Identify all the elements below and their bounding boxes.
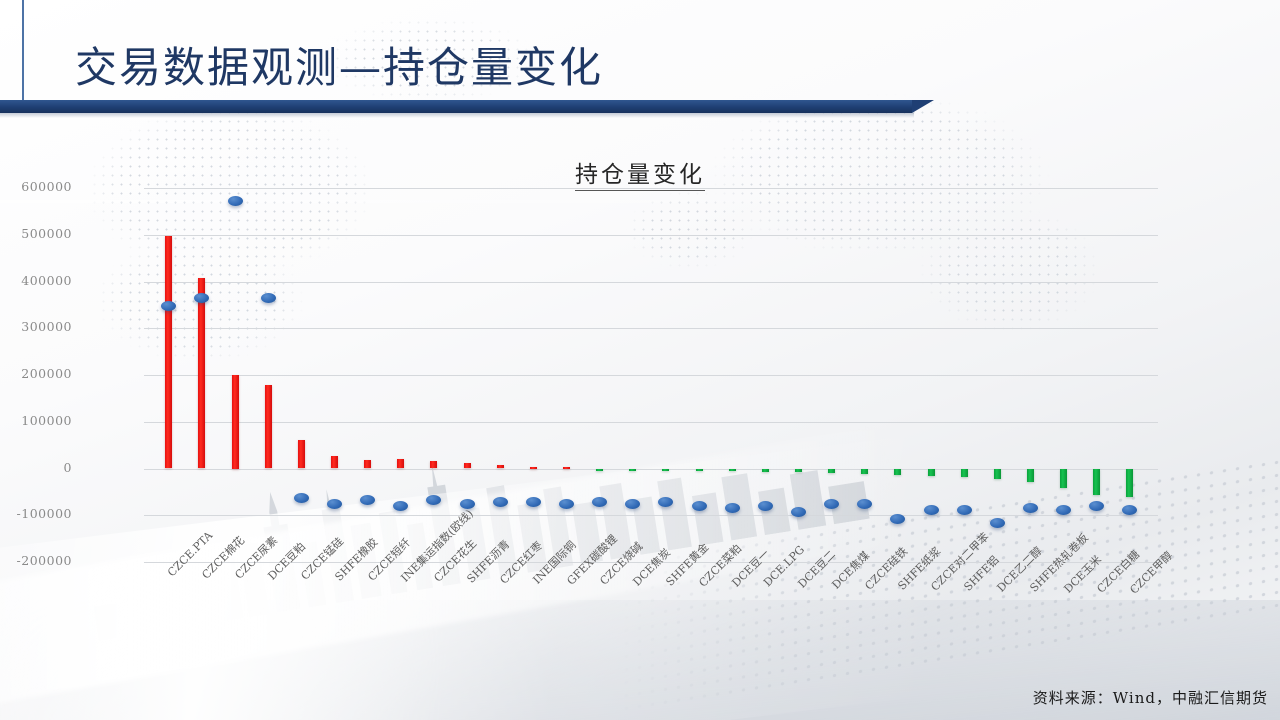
chart-bar xyxy=(629,469,636,471)
chart-marker xyxy=(924,505,939,515)
chart-marker xyxy=(725,503,740,513)
chart-bar xyxy=(1126,469,1133,498)
chart-title-text: 持仓量变化 xyxy=(575,162,705,191)
gridline xyxy=(144,469,1158,470)
chart-bar xyxy=(994,469,1001,479)
y-axis-left-tick: -100000 xyxy=(0,506,72,521)
chart-bar xyxy=(497,465,504,468)
chart-bar xyxy=(1093,469,1100,495)
chart-bar xyxy=(928,469,935,476)
slide-canvas: 交易数据观测—持仓量变化 持仓量变化 -200000-1000000100000… xyxy=(0,0,1280,720)
chart-bar xyxy=(861,469,868,474)
chart-marker xyxy=(692,501,707,511)
gridline xyxy=(144,328,1158,329)
chart-marker xyxy=(493,497,508,507)
chart-bar xyxy=(1027,469,1034,482)
chart-marker xyxy=(526,497,541,507)
chart-bar xyxy=(662,469,669,471)
chart-marker xyxy=(824,499,839,509)
chart-bar xyxy=(298,440,305,468)
y-axis-left-tick: 400000 xyxy=(0,273,72,288)
chart-marker xyxy=(592,497,607,507)
chart-marker xyxy=(890,514,905,524)
y-axis-left-tick: -200000 xyxy=(0,553,72,568)
gridline xyxy=(144,375,1158,376)
chart-bar xyxy=(530,467,537,469)
y-axis-left-tick: 600000 xyxy=(0,179,72,194)
chart-marker xyxy=(327,499,342,509)
chart-marker xyxy=(360,495,375,505)
chart-plot-area: -200000-10000001000002000003000004000005… xyxy=(144,188,1158,562)
chart-marker xyxy=(658,497,673,507)
chart-bar xyxy=(265,385,272,468)
y-axis-left-tick: 100000 xyxy=(0,413,72,428)
chart-bar xyxy=(795,469,802,473)
chart-bar xyxy=(364,460,371,468)
chart-marker xyxy=(990,518,1005,528)
gridline xyxy=(144,282,1158,283)
chart-bar xyxy=(762,469,769,472)
chart-marker xyxy=(228,196,243,206)
chart-bar xyxy=(828,469,835,473)
chart-bar xyxy=(232,375,239,469)
chart-marker xyxy=(857,499,872,509)
chart-marker xyxy=(1023,503,1038,513)
chart-bar xyxy=(894,469,901,475)
gridline xyxy=(144,188,1158,189)
gridline xyxy=(144,422,1158,423)
y-axis-left-tick: 500000 xyxy=(0,226,72,241)
chart-marker xyxy=(1056,505,1071,515)
chart-bar xyxy=(729,469,736,472)
chart-marker xyxy=(1122,505,1137,515)
chart-marker xyxy=(791,507,806,517)
chart-marker xyxy=(957,505,972,515)
chart-bar xyxy=(430,461,437,468)
chart-bar xyxy=(165,236,172,468)
chart-bar xyxy=(563,467,570,469)
chart-bar xyxy=(596,469,603,471)
y-axis-left-tick: 200000 xyxy=(0,366,72,381)
gridline xyxy=(144,235,1158,236)
chart-bar xyxy=(464,463,471,468)
chart-marker xyxy=(294,493,309,503)
chart-marker xyxy=(161,301,176,311)
chart-marker xyxy=(261,293,276,303)
chart-area: 持仓量变化 -200000-10000001000002000003000004… xyxy=(0,0,1280,720)
y-axis-left-tick: 300000 xyxy=(0,319,72,334)
chart-bar xyxy=(961,469,968,477)
chart-bar xyxy=(696,469,703,471)
chart-title: 持仓量变化 xyxy=(0,155,1280,189)
source-note: 资料来源：Wind，中融汇信期货 xyxy=(1033,687,1268,708)
chart-bar xyxy=(198,278,205,469)
chart-marker xyxy=(559,499,574,509)
y-axis-left-tick: 0 xyxy=(0,460,72,475)
chart-marker xyxy=(758,501,773,511)
chart-bar xyxy=(331,456,338,469)
chart-bar xyxy=(1060,469,1067,489)
chart-marker xyxy=(1089,501,1104,511)
gridline xyxy=(144,515,1158,516)
chart-marker xyxy=(194,293,209,303)
chart-marker xyxy=(426,495,441,505)
chart-marker xyxy=(393,501,408,511)
chart-marker xyxy=(625,499,640,509)
chart-bar xyxy=(397,459,404,468)
